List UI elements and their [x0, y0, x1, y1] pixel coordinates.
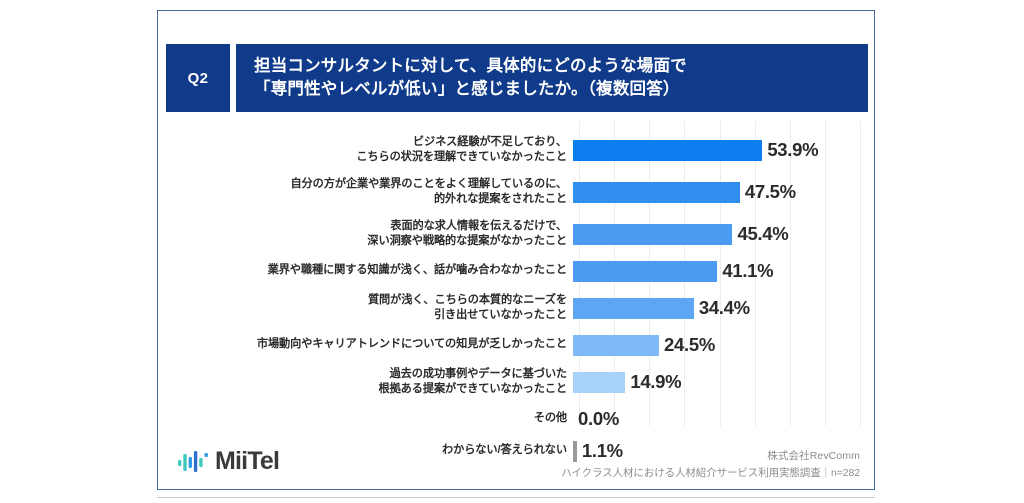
- bar-row: 業界や職種に関する知識が浅く、話が噛み合わなかったこと41.1%: [158, 255, 876, 287]
- question-number-badge: Q2: [166, 44, 230, 112]
- bar-value-label: 14.9%: [630, 371, 681, 393]
- bar-category-line: 表面的な求人情報を伝えるだけで、: [158, 219, 567, 234]
- bar-value-label: 53.9%: [767, 139, 818, 161]
- bar-category-line: 深い洞察や戦略的な提案がなかったこと: [158, 234, 567, 249]
- bar-track: 45.4%: [573, 213, 876, 255]
- bar-track: 34.4%: [573, 287, 876, 329]
- bar-category-line: 質問が浅く、こちらの本質的なニーズを: [158, 293, 567, 308]
- bar-track: 41.1%: [573, 255, 876, 287]
- bar-track: 53.9%: [573, 129, 876, 171]
- bar-value-label: 0.0%: [578, 408, 619, 430]
- bar-category-line: 引き出せていなかったこと: [158, 308, 567, 323]
- bar-row: 表面的な求人情報を伝えるだけで、深い洞察や戦略的な提案がなかったこと45.4%: [158, 213, 876, 255]
- bar-track: 24.5%: [573, 329, 876, 361]
- bar: [573, 261, 717, 282]
- bar: [573, 335, 659, 356]
- bar-category-label: その他: [158, 411, 573, 426]
- bar-category-label: 市場動向やキャリアトレンドについての知見が乏しかったこと: [158, 337, 573, 352]
- bar-category-line: 市場動向やキャリアトレンドについての知見が乏しかったこと: [158, 337, 567, 352]
- bar-category-line: 過去の成功事例やデータに基づいた: [158, 367, 567, 382]
- bar-value-label: 24.5%: [664, 334, 715, 356]
- bar-row: 自分の方が企業や業界のことをよく理解しているのに、的外れな提案をされたこと47.…: [158, 171, 876, 213]
- bar-category-line: こちらの状況を理解できていなかったこと: [158, 150, 567, 165]
- bar-category-label: ビジネス経験が不足しており、こちらの状況を理解できていなかったこと: [158, 135, 573, 166]
- bar-value-label: 45.4%: [737, 223, 788, 245]
- bar-row: 市場動向やキャリアトレンドについての知見が乏しかったこと24.5%: [158, 329, 876, 361]
- bar-category-label: 自分の方が企業や業界のことをよく理解しているのに、的外れな提案をされたこと: [158, 177, 573, 208]
- bar-category-label: 過去の成功事例やデータに基づいた根拠ある提案ができていなかったこと: [158, 367, 573, 398]
- bar-value-label: 47.5%: [745, 181, 796, 203]
- bar-row: ビジネス経験が不足しており、こちらの状況を理解できていなかったこと53.9%: [158, 129, 876, 171]
- bar-category-line: 根拠ある提案ができていなかったこと: [158, 382, 567, 397]
- bar: [573, 140, 762, 161]
- slide-frame: Q2 担当コンサルタントに対して、具体的にどのような場面で 「専門性やレベルが低…: [157, 10, 875, 490]
- bar: [573, 182, 740, 203]
- bar-category-label: 表面的な求人情報を伝えるだけで、深い洞察や戦略的な提案がなかったこと: [158, 219, 573, 250]
- bar: [573, 298, 694, 319]
- slide-footer: MiiTel 株式会社RevComm ハイクラス人材における人材紹介サービス利用…: [158, 443, 876, 489]
- bar-category-line: 自分の方が企業や業界のことをよく理解しているのに、: [158, 177, 567, 192]
- bar-chart: ビジネス経験が不足しており、こちらの状況を理解できていなかったこと53.9%自分…: [158, 121, 876, 426]
- miitel-wordmark: MiiTel: [215, 449, 279, 474]
- bar-track: 47.5%: [573, 171, 876, 213]
- bar-category-line: 業界や職種に関する知識が浅く、話が噛み合わなかったこと: [158, 263, 567, 278]
- question-title-line-2: 「専門性やレベルが低い」と感じましたか。（複数回答）: [254, 78, 868, 101]
- bottom-rule: [157, 497, 875, 498]
- bar: [573, 372, 625, 393]
- bar-row: 質問が浅く、こちらの本質的なニーズを引き出せていなかったこと34.4%: [158, 287, 876, 329]
- question-title-line-1: 担当コンサルタントに対して、具体的にどのような場面で: [254, 55, 868, 78]
- waveform-icon: [178, 451, 208, 473]
- question-title-box: 担当コンサルタントに対して、具体的にどのような場面で 「専門性やレベルが低い」と…: [236, 44, 868, 112]
- credit-company: 株式会社RevComm: [561, 449, 860, 465]
- credit-block: 株式会社RevComm ハイクラス人材における人材紹介サービス利用実態調査｜n=…: [561, 449, 860, 482]
- bar-row: 過去の成功事例やデータに基づいた根拠ある提案ができていなかったこと14.9%: [158, 361, 876, 403]
- bar-track: 14.9%: [573, 361, 876, 403]
- question-header: Q2 担当コンサルタントに対して、具体的にどのような場面で 「専門性やレベルが低…: [158, 44, 876, 112]
- bar-category-line: 的外れな提案をされたこと: [158, 192, 567, 207]
- bar-value-label: 34.4%: [699, 297, 750, 319]
- bar-category-label: 業界や職種に関する知識が浅く、話が噛み合わなかったこと: [158, 263, 573, 278]
- bar-category-label: 質問が浅く、こちらの本質的なニーズを引き出せていなかったこと: [158, 293, 573, 324]
- bar-category-line: その他: [158, 411, 567, 426]
- credit-survey: ハイクラス人材における人材紹介サービス利用実態調査｜n=282: [561, 465, 860, 482]
- bar-category-line: ビジネス経験が不足しており、: [158, 135, 567, 150]
- bar: [573, 224, 732, 245]
- bar-track: 0.0%: [573, 403, 876, 435]
- bar-row: その他0.0%: [158, 403, 876, 435]
- miitel-logo: MiiTel: [178, 449, 279, 474]
- bar-value-label: 41.1%: [722, 260, 773, 282]
